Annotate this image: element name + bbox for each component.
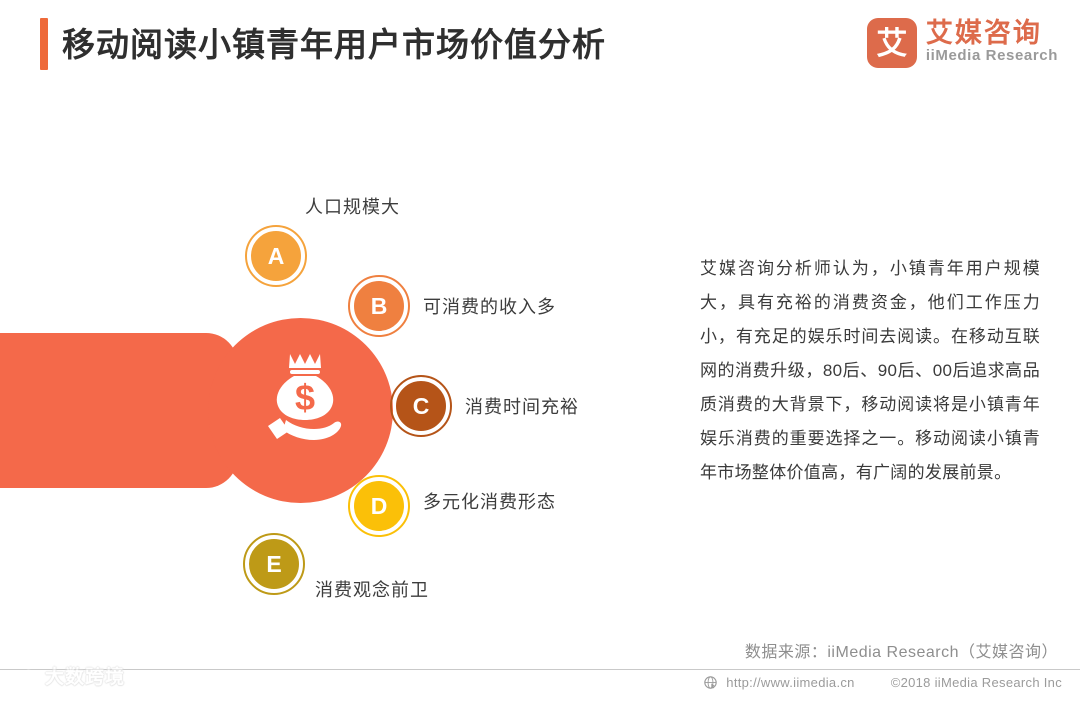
footer-url[interactable]: http://www.iimedia.cn <box>726 675 854 690</box>
node-circle-d[interactable]: D <box>351 478 407 534</box>
node-circle-c[interactable]: C <box>393 378 449 434</box>
brand-logo: 艾 艾媒咨询 iiMedia Research <box>867 18 1058 68</box>
analysis-paragraph: 艾媒咨询分析师认为，小镇青年用户规模大，具有充裕的消费资金，他们工作压力小，有充… <box>700 252 1040 490</box>
node-label-a: 人口规模大 <box>305 196 400 218</box>
watermark-text: 大数跨境 <box>45 668 125 688</box>
owl-mascot-icon <box>14 668 40 688</box>
source-note: 数据来源：iiMedia Research（艾媒咨询） <box>745 638 1058 662</box>
hub-banner: 小镇青年用户市场 价值高 <box>0 333 238 488</box>
node-circle-e[interactable]: E <box>246 536 302 592</box>
node-label-c: 消费时间充裕 <box>465 396 579 418</box>
node-circle-a[interactable]: A <box>248 228 304 284</box>
node-letter-d: D <box>371 493 388 520</box>
footer-copyright: ©2018 iiMedia Research Inc <box>891 675 1062 690</box>
footer-divider <box>0 669 1080 670</box>
brand-logo-name-cn: 艾媒咨询 <box>926 20 1058 48</box>
page-title: 移动阅读小镇青年用户市场价值分析 <box>62 18 842 72</box>
footer-bar: http://www.iimedia.cn ©2018 iiMedia Rese… <box>704 675 1062 690</box>
infographic-page: 移动阅读小镇青年用户市场价值分析 艾 艾媒咨询 iiMedia Research… <box>0 0 1080 701</box>
node-letter-a: A <box>268 243 285 270</box>
brand-logo-mark-icon: 艾 <box>867 18 917 68</box>
globe-icon <box>704 676 717 689</box>
node-label-b: 可消费的收入多 <box>423 296 556 318</box>
brand-logo-mark-glyph: 艾 <box>867 18 917 68</box>
node-letter-c: C <box>413 393 430 420</box>
svg-text:$: $ <box>295 377 315 418</box>
node-circle-b[interactable]: B <box>351 278 407 334</box>
watermark: 大数跨境 <box>14 668 125 688</box>
brand-logo-text: 艾媒咨询 iiMedia Research <box>926 20 1058 66</box>
node-letter-b: B <box>371 293 388 320</box>
money-bag-in-hand-icon: $ <box>264 350 342 445</box>
node-label-e: 消费观念前卫 <box>315 579 429 601</box>
node-label-d: 多元化消费形态 <box>423 491 556 513</box>
node-letter-e: E <box>266 551 281 578</box>
title-accent-bar <box>40 18 48 70</box>
brand-logo-name-en: iiMedia Research <box>926 47 1058 66</box>
